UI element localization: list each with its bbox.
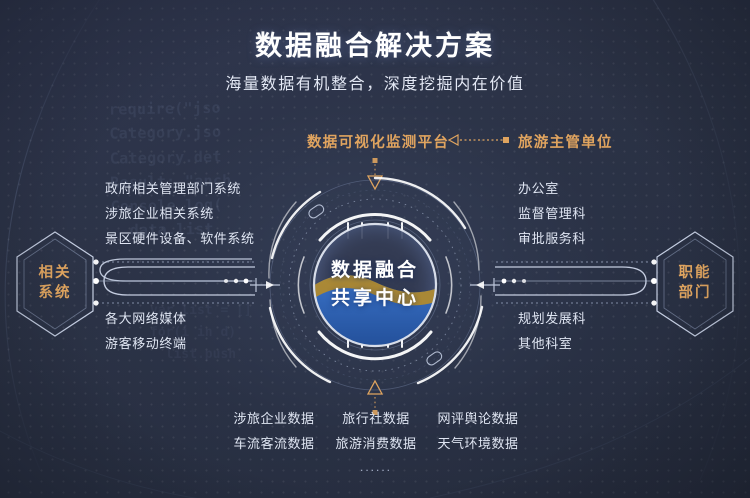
list-item: 涉旅企业相关系统 <box>105 201 255 226</box>
data-cell: 网评舆论数据 <box>430 406 526 431</box>
hexagon-left-related-systems[interactable]: 相关 系统 <box>12 229 98 339</box>
bottom-data-sources-grid: 涉旅企业数据 旅行社数据 网评舆论数据 车流客流数据 旅游消费数据 天气环境数据… <box>226 406 526 474</box>
hex-right-line2: 部门 <box>679 284 712 304</box>
hexagon-right-functional-departments[interactable]: 职能 部门 <box>652 229 738 339</box>
label-visualization-platform[interactable]: 数据可视化监测平台 <box>307 131 449 152</box>
hexagon-right-label: 职能 部门 <box>652 229 738 339</box>
list-item: 游客移动终端 <box>105 331 187 356</box>
central-hub-ring <box>250 160 500 410</box>
list-item: 监督管理科 <box>518 201 586 226</box>
list-item: 政府相关管理部门系统 <box>105 176 255 201</box>
hex-right-line1: 职能 <box>679 264 712 284</box>
list-item: 办公室 <box>518 176 586 201</box>
table-row: 涉旅企业数据 旅行社数据 网评舆论数据 <box>226 406 526 431</box>
right-top-department-list: 办公室 监督管理科 审批服务科 <box>518 176 586 251</box>
data-cell: 旅游消费数据 <box>328 431 424 456</box>
hex-left-line1: 相关 <box>39 264 72 284</box>
list-item: 各大网络媒体 <box>105 306 187 331</box>
ellipsis-indicator: ...... <box>226 460 526 474</box>
list-item: 景区硬件设备、软件系统 <box>105 226 255 251</box>
left-arrow-dashed-icon <box>447 134 511 146</box>
table-row: 车流客流数据 旅游消费数据 天气环境数据 <box>226 431 526 456</box>
infographic-canvas: require("jso Category.jso Category.det R… <box>0 0 750 498</box>
data-cell: 旅行社数据 <box>328 406 424 431</box>
label-tourism-authority[interactable]: 旅游主管单位 <box>518 131 613 152</box>
data-cell: 天气环境数据 <box>430 431 526 456</box>
left-top-system-list: 政府相关管理部门系统 涉旅企业相关系统 景区硬件设备、软件系统 <box>105 176 255 251</box>
right-bottom-department-list: 规划发展科 其他科室 <box>518 306 586 356</box>
left-bottom-system-list: 各大网络媒体 游客移动终端 <box>105 306 187 356</box>
page-subtitle: 海量数据有机整合，深度挖掘内在价值 <box>0 70 750 94</box>
hexagon-left-label: 相关 系统 <box>12 229 98 339</box>
page-title: 数据融合解决方案 <box>0 24 750 63</box>
data-cell: 车流客流数据 <box>226 431 322 456</box>
hex-left-line2: 系统 <box>39 284 72 304</box>
list-item: 其他科室 <box>518 331 586 356</box>
list-item: 规划发展科 <box>518 306 586 331</box>
data-cell: 涉旅企业数据 <box>226 406 322 431</box>
list-item: 审批服务科 <box>518 226 586 251</box>
